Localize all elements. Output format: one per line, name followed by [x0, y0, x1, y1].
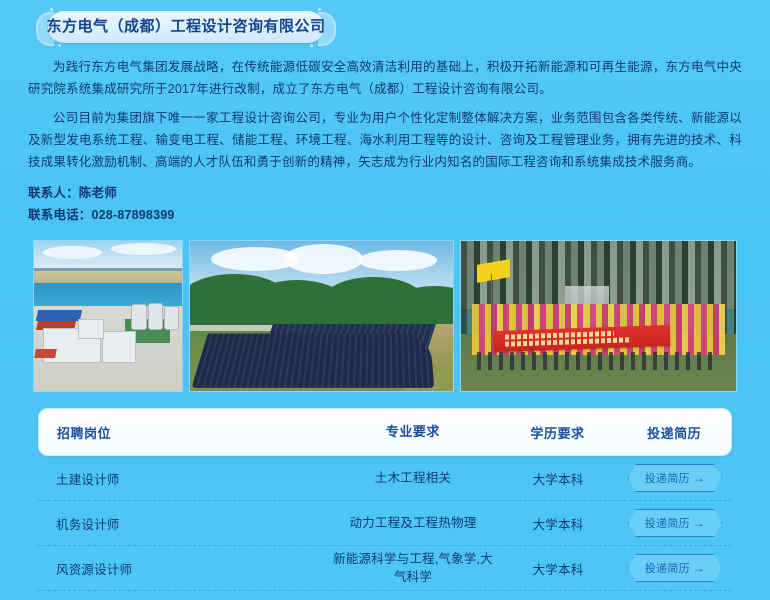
job-degree: 大学本科 [498, 514, 618, 533]
page-title: 东方电气（成都）工程设计咨询有限公司 [36, 11, 336, 43]
job-post-name: 机务设计师 [38, 514, 328, 533]
recruitment-page: 东方电气（成都）工程设计咨询有限公司 为践行东方电气集团发展战略，在传统能源低碳… [0, 0, 770, 600]
table-row: 风资源设计师 新能源科学与工程,气象学,大气科学 大学本科 投递简历 → [38, 546, 732, 591]
apply-button-label: 投递简历 [645, 515, 690, 531]
job-major: 新能源科学与工程,气象学,大气科学 [328, 550, 498, 586]
arrow-right-icon: → [693, 472, 705, 484]
job-degree: 大学本科 [498, 469, 618, 488]
job-post-name: 土建设计师 [38, 469, 328, 488]
photo-aerial-power-plant [33, 240, 183, 392]
arrow-right-icon: → [693, 562, 705, 574]
banner-dot-icon [310, 44, 313, 47]
contact-person: 联系人：陈老师 [28, 182, 428, 204]
job-major: 动力工程及工程热物理 [328, 514, 498, 532]
intro-paragraph-2: 公司目前为集团旗下唯一一家工程设计咨询公司，专业为用户个性化定制整体解决方案，业… [28, 107, 742, 173]
job-post-name: 风资源设计师 [38, 559, 328, 578]
apply-button-label: 投递简历 [645, 560, 690, 576]
contact-block: 联系人：陈老师 联系电话：028-87898399 [28, 182, 428, 226]
apply-button[interactable]: 投递简历 → [628, 554, 722, 582]
job-major: 土木工程相关 [328, 469, 498, 487]
table-header-row: 招聘岗位 专业要求 学历要求 投递简历 [38, 408, 732, 456]
column-header-apply: 投递简历 [617, 423, 731, 442]
contact-phone: 联系电话：028-87898399 [28, 204, 428, 226]
apply-button[interactable]: 投递简历 → [628, 509, 722, 537]
column-header-major: 专业要求 [328, 423, 498, 441]
arrow-right-icon: → [693, 517, 705, 529]
company-introduction: 为践行东方电气集团发展战略，在传统能源低碳安全高效清洁利用的基础上，积极开拓新能… [28, 56, 742, 180]
photo-team-group [460, 240, 737, 392]
job-openings-table: 招聘岗位 专业要求 学历要求 投递简历 土建设计师 土木工程相关 大学本科 投递… [38, 408, 732, 591]
column-header-degree: 学历要求 [498, 423, 618, 442]
job-degree: 大学本科 [498, 559, 618, 578]
apply-button-label: 投递简历 [645, 470, 690, 486]
company-title-banner: 东方电气（成都）工程设计咨询有限公司 [36, 11, 336, 43]
column-header-post: 招聘岗位 [39, 423, 328, 442]
photo-gallery [33, 240, 737, 392]
intro-paragraph-1: 为践行东方电气集团发展战略，在传统能源低碳安全高效清洁利用的基础上，积极开拓新能… [28, 56, 742, 100]
table-row: 机务设计师 动力工程及工程热物理 大学本科 投递简历 → [38, 501, 732, 546]
apply-button[interactable]: 投递简历 → [628, 464, 722, 492]
banner-dot-icon [58, 44, 61, 47]
table-row: 土建设计师 土木工程相关 大学本科 投递简历 → [38, 456, 732, 501]
photo-solar-farm [189, 240, 454, 392]
